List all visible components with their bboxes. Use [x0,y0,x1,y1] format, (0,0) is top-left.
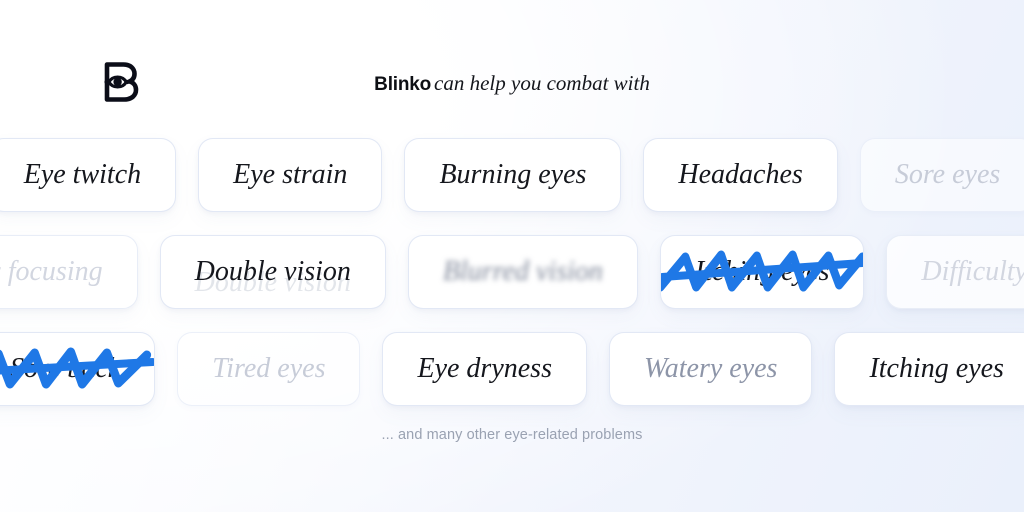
symptom-chip-label: Eye twitch [24,158,141,192]
symptom-chip-label: Tired eyes [212,352,325,386]
symptom-chip[interactable]: Difficulty focusing [886,235,1024,309]
symptom-chip-label: Sore back [10,352,120,386]
symptom-chip[interactable]: Blurred vision [408,235,638,309]
symptom-chip-label: Burning eyes [439,158,586,192]
symptom-chip[interactable]: Sore eyes [860,138,1024,212]
symptom-chip[interactable]: Sore back [0,332,155,406]
symptom-chip-label: Headaches [678,158,802,192]
headline: Blinkocan help you combat with [0,70,1024,98]
symptom-chip-label: Blurred vision [443,255,603,289]
symptom-chip[interactable]: Watery eyes [609,332,812,406]
symptom-chip-label: Sore eyes [895,158,1000,192]
symptom-chip[interactable]: Tired eyes [177,332,360,406]
symptom-chip-label: Difficulty focusing [0,255,103,289]
footer-note: ... and many other eye-related problems [0,424,1024,446]
symptom-chip-label: Eye strain [233,158,347,192]
symptom-chip-label: Difficulty focusing [921,255,1024,289]
symptom-chip[interactable]: Burning eyes [404,138,621,212]
symptom-row: Eye twitch Eye strain Burning eyes Heada… [0,126,1024,223]
symptom-chip[interactable]: Itching eyes [834,332,1024,406]
symptom-chip-rows: Eye twitch Eye strain Burning eyes Heada… [0,126,1024,417]
symptom-chip-label: Itching eyes [869,352,1004,386]
symptom-chip-label: Double vision [195,255,351,289]
symptom-chip[interactable]: Double vision Double vision [160,235,386,309]
brand-name: Blinko [374,74,431,95]
symptom-chip[interactable]: Difficulty focusing [0,235,138,309]
symptom-row: Sore back Tired eyes Eye dryness Watery … [0,320,1024,417]
symptom-chip[interactable]: Eye strain [198,138,382,212]
banner-header: Blinkocan help you combat with [0,0,1024,126]
headline-tagline: can help you combat with [434,71,650,95]
symptom-chip[interactable]: Itching eyes [660,235,865,309]
symptom-chip[interactable]: Eye twitch [0,138,176,212]
symptom-row: Difficulty focusing Double vision Double… [0,223,1024,320]
promo-banner: Blinkocan help you combat with Eye twitc… [0,0,1024,512]
symptom-chip[interactable]: Headaches [643,138,837,212]
symptom-chip-label: Itching eyes [695,255,830,289]
symptom-chip-label: Watery eyes [644,352,777,386]
symptom-chip-label: Eye dryness [417,352,552,386]
symptom-chip[interactable]: Eye dryness [382,332,587,406]
